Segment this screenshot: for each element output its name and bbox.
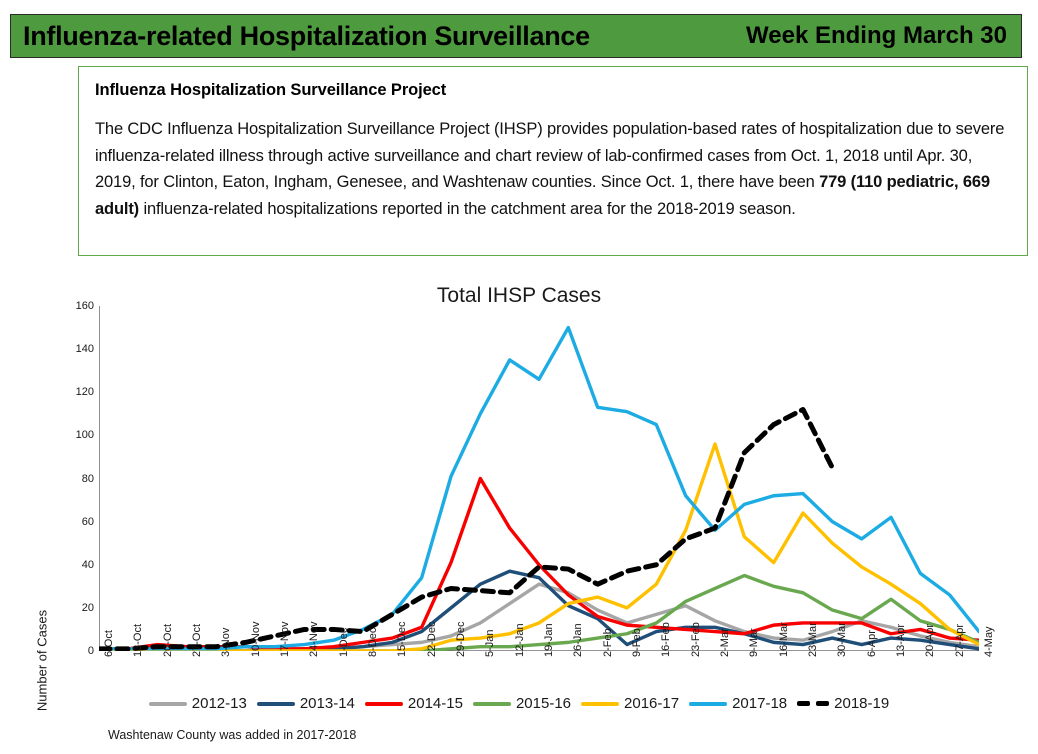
x-tick-label: 9-Feb [631, 628, 643, 657]
week-ending-label: Week Ending March 30 [746, 22, 1007, 50]
legend-swatch [257, 702, 295, 706]
chart-svg [99, 306, 979, 651]
legend-label: 2015-16 [516, 695, 571, 712]
chart-legend: 2012-132013-142014-152015-162016-172017-… [0, 695, 1038, 712]
legend-item-2017-18[interactable]: 2017-18 [689, 695, 787, 712]
x-tick-label: 15-Dec [396, 622, 408, 657]
legend-dash-segment [816, 701, 829, 706]
x-tick-label: 5-Jan [484, 629, 496, 657]
y-tick-label: 140 [64, 344, 94, 354]
legend-label: 2016-17 [624, 695, 679, 712]
info-box-title: Influenza Hospitalization Surveillance P… [95, 81, 1009, 100]
x-tick-label: 17-Nov [279, 622, 291, 657]
x-tick-label: 20-Oct [162, 624, 174, 657]
x-tick-label: 16-Mar [778, 622, 790, 657]
x-tick-label: 13-Oct [132, 624, 144, 657]
x-tick-label: 27-Apr [954, 624, 966, 657]
legend-item-2012-13[interactable]: 2012-13 [149, 695, 247, 712]
x-tick-label: 6-Oct [103, 630, 115, 657]
chart-title: Total IHSP Cases [0, 284, 1038, 308]
x-tick-label: 8-Dec [367, 628, 379, 657]
y-axis-ticks: 020406080100120140160 [62, 306, 94, 651]
legend-label: 2012-13 [192, 695, 247, 712]
y-tick-label: 120 [64, 387, 94, 397]
legend-swatch-dashed [797, 701, 829, 706]
x-tick-label: 3-Nov [220, 628, 232, 657]
x-tick-label: 1-Dec [338, 628, 350, 657]
x-tick-label: 12-Jan [514, 623, 526, 657]
legend-item-2016-17[interactable]: 2016-17 [581, 695, 679, 712]
info-box-body: The CDC Influenza Hospitalization Survei… [95, 116, 1009, 223]
legend-label: 2017-18 [732, 695, 787, 712]
info-body-part2: influenza-related hospitalizations repor… [139, 200, 796, 218]
x-tick-label: 23-Feb [690, 622, 702, 657]
legend-swatch [149, 702, 187, 706]
x-tick-label: 26-Jan [572, 623, 584, 657]
series-line-2017-18 [99, 328, 979, 649]
plot-area [99, 306, 979, 651]
y-axis-label: Number of Cases [35, 581, 50, 741]
x-tick-label: 9-Mar [748, 628, 760, 657]
x-tick-label: 10-Nov [250, 622, 262, 657]
legend-dash-segment [797, 701, 810, 706]
y-tick-label: 80 [64, 474, 94, 484]
y-tick-label: 40 [64, 560, 94, 570]
x-tick-label: 2-Feb [602, 628, 614, 657]
chart-axes [99, 306, 979, 651]
legend-swatch [689, 702, 727, 706]
legend-item-2018-19[interactable]: 2018-19 [797, 695, 889, 712]
series-line-2016-17 [99, 444, 979, 651]
x-tick-label: 16-Feb [660, 622, 672, 657]
x-tick-label: 20-Apr [924, 624, 936, 657]
x-tick-label: 30-Mar [836, 622, 848, 657]
x-tick-label: 19-Jan [543, 623, 555, 657]
x-tick-label: 27-Oct [191, 624, 203, 657]
x-tick-label: 6-Apr [866, 630, 878, 657]
legend-item-2013-14[interactable]: 2013-14 [257, 695, 355, 712]
legend-label: 2018-19 [834, 695, 889, 712]
legend-swatch [365, 702, 403, 706]
legend-swatch [581, 702, 619, 706]
x-tick-label: 2-Mar [719, 628, 731, 657]
x-tick-label: 13-Apr [895, 624, 907, 657]
x-tick-label: 23-Mar [807, 622, 819, 657]
legend-item-2015-16[interactable]: 2015-16 [473, 695, 571, 712]
legend-swatch [473, 702, 511, 706]
x-tick-label: 29-Dec [455, 622, 467, 657]
y-tick-label: 20 [64, 603, 94, 613]
page-title: Influenza-related Hospitalization Survei… [23, 21, 590, 52]
y-tick-label: 0 [64, 646, 94, 656]
header-banner: Influenza-related Hospitalization Survei… [10, 14, 1022, 58]
x-tick-label: 22-Dec [426, 622, 438, 657]
info-box: Influenza Hospitalization Surveillance P… [78, 66, 1028, 256]
x-tick-label: 4-May [983, 626, 995, 657]
chart-container: Total IHSP Cases Number of Cases 0204060… [0, 258, 1038, 754]
chart-footnote: Washtenaw County was added in 2017-2018 [108, 728, 356, 742]
legend-label: 2013-14 [300, 695, 355, 712]
y-tick-label: 160 [64, 301, 94, 311]
x-tick-label: 24-Nov [308, 622, 320, 657]
y-tick-label: 60 [64, 517, 94, 527]
legend-item-2014-15[interactable]: 2014-15 [365, 695, 463, 712]
legend-label: 2014-15 [408, 695, 463, 712]
y-tick-label: 100 [64, 430, 94, 440]
